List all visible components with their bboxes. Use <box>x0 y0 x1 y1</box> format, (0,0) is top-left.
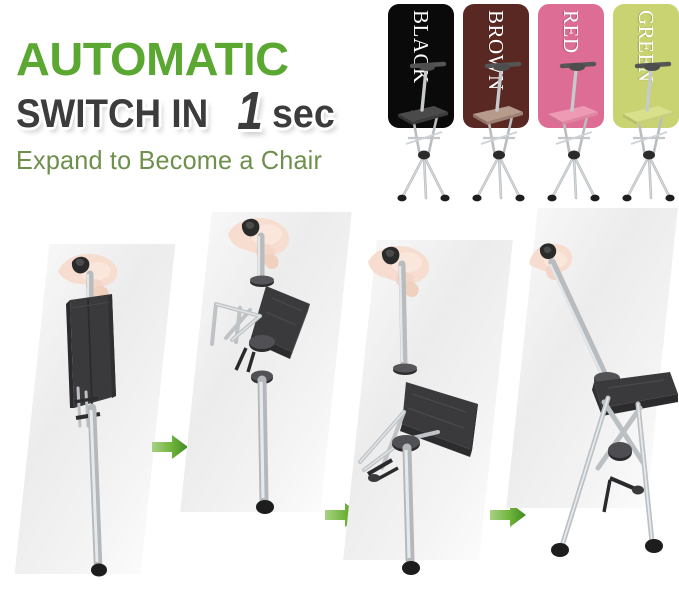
headline-switch-in: SWITCH IN <box>16 94 208 134</box>
headline-block: AUTOMATIC SWITCH IN 1 sec Expand to Beco… <box>16 36 388 174</box>
step-3-legs-spreading <box>352 212 517 601</box>
step-1-folded-cane <box>20 212 180 601</box>
folded-seat-block <box>66 294 116 408</box>
rubber-tip <box>551 543 569 557</box>
headline-one-numeral: 1 <box>237 88 263 134</box>
rubber-tip <box>645 539 663 553</box>
headline-switch-row: SWITCH IN 1 sec <box>16 88 388 134</box>
step-4-illustration <box>512 212 679 601</box>
rubber-tip <box>91 564 107 577</box>
headline-subtitle: Expand to Become a Chair <box>16 146 377 174</box>
step-3-illustration <box>352 212 517 601</box>
product-infographic: AUTOMATIC SWITCH IN 1 sec Expand to Beco… <box>0 0 679 601</box>
step-2-seat-unfolding <box>182 212 357 601</box>
transformation-step-sequence <box>0 212 679 601</box>
cane-chair-illustration <box>457 52 541 202</box>
headline-sec-unit: sec <box>272 94 335 134</box>
step-1-illustration <box>20 212 180 601</box>
step-2-illustration <box>182 212 357 601</box>
rubber-tip <box>402 561 420 575</box>
rubber-tip <box>256 500 274 514</box>
cane-chair-illustration <box>532 52 616 202</box>
step-4-chair-ready <box>512 212 679 601</box>
cane-chair-illustration <box>382 52 466 202</box>
headline-automatic: AUTOMATIC <box>16 36 395 82</box>
cane-chair-illustration <box>607 52 679 202</box>
color-options-strip: BLACK <box>388 0 679 210</box>
